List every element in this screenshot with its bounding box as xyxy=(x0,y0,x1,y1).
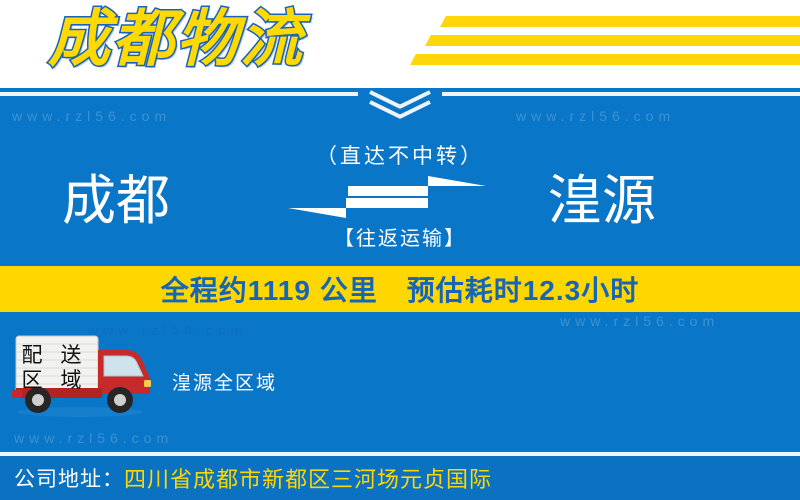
address-bar: 公司地址： 四川省成都市新都区三河场元贞国际 xyxy=(0,456,800,500)
address-value: 四川省成都市新都区三河场元贞国际 xyxy=(124,462,492,494)
direct-shipping-note: （直达不中转） xyxy=(0,140,800,170)
brand-title: 成都物流 xyxy=(48,2,304,78)
chevron-down-icon-2 xyxy=(370,100,430,116)
delivery-area-label: 湟源全区域 xyxy=(172,368,277,395)
logistics-poster: 成都物流 www.rzl56.com www.rzl56.com 成都 湟源 （… xyxy=(0,0,800,500)
truck-box-char-4: 域 xyxy=(61,368,82,392)
watermark-bottom-left: www.rzl56.com xyxy=(14,430,173,446)
watermark-top-left: www.rzl56.com xyxy=(12,108,171,124)
truck-box-char-2: 送 xyxy=(61,343,82,367)
watermark-top-right: www.rzl56.com xyxy=(516,108,675,124)
truck-box-char-1: 配 xyxy=(22,343,43,367)
double-arrow-icon xyxy=(288,176,486,218)
delivery-truck-icon: 配 送 区 域 xyxy=(8,330,160,420)
header-stripes-decoration xyxy=(410,14,800,76)
address-label: 公司地址： xyxy=(14,463,124,493)
stripe-3 xyxy=(410,54,800,65)
stripe-2 xyxy=(425,35,800,46)
distance-bar: 全程约1119 公里 预估耗时12.3小时 xyxy=(0,266,800,312)
stripe-1 xyxy=(440,16,800,27)
roundtrip-note: 【往返运输】 xyxy=(0,222,800,251)
truck-box-char-3: 区 xyxy=(22,368,43,392)
distance-text: 全程约1119 公里 预估耗时12.3小时 xyxy=(161,269,639,309)
watermark-mid-right: www.rzl56.com xyxy=(560,313,719,329)
poster-header: 成都物流 xyxy=(0,0,800,88)
